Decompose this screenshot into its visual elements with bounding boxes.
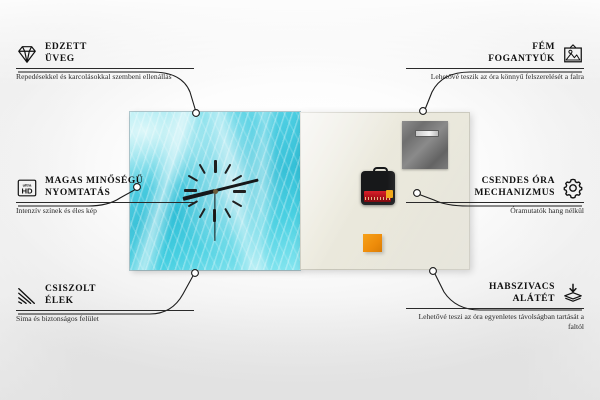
callout-subtitle: Lehetővé teszi az óra egyenletes távolsá… xyxy=(406,312,584,331)
callout-divider xyxy=(406,68,584,69)
callout-subtitle: Lehetővé teszik az óra könnyű felszerelé… xyxy=(406,72,584,82)
callout-header: FÉM FOGANTYÚK xyxy=(406,42,584,65)
callout-header: HABSZIVACS ALÁTÉT xyxy=(406,282,584,305)
callout-edzett-uveg: EDZETT ÜVEG Repedésekkel és karcolásokka… xyxy=(16,42,194,82)
callout-title-line2: ALÁTÉT xyxy=(489,294,555,306)
callout-title-line2: FOGANTYÚK xyxy=(488,54,555,66)
clock-mechanism-part xyxy=(361,167,395,205)
callout-title-line2: MECHANIZMUS xyxy=(475,188,555,200)
callout-habszivacs-alatet: HABSZIVACS ALÁTÉT Lehetővé teszi az óra … xyxy=(406,282,584,331)
callout-subtitle: Intenzív színek és éles kép xyxy=(16,206,194,216)
callout-title-line2: ÉLEK xyxy=(45,296,96,308)
callout-header: ultra HD MAGAS MINŐSÉGŰ NYOMTATÁS xyxy=(16,176,194,199)
foam-pad-icon xyxy=(562,283,584,305)
metal-hanger-part xyxy=(402,121,448,169)
callout-divider xyxy=(406,202,584,203)
callout-title-line1: CSENDES ÓRA xyxy=(475,176,555,188)
callout-title-line2: ÜVEG xyxy=(45,54,87,66)
callout-divider xyxy=(16,310,194,311)
foam-pad-part xyxy=(363,234,382,252)
callout-fem-fogantyuk: FÉM FOGANTYÚK Lehetővé teszik az óra kön… xyxy=(406,42,584,82)
svg-text:HD: HD xyxy=(21,186,33,195)
callout-divider xyxy=(16,68,194,69)
gear-icon xyxy=(562,177,584,199)
polished-edges-icon xyxy=(16,285,38,307)
callout-title-line1: FÉM xyxy=(488,42,555,54)
callout-csiszolt-elek: CSISZOLT ÉLEK Sima és biztonságos felüle… xyxy=(16,284,194,324)
callout-subtitle: Óramutatók hang nélkül xyxy=(406,206,584,216)
callout-header: EDZETT ÜVEG xyxy=(16,42,194,65)
callout-header: CSISZOLT ÉLEK xyxy=(16,284,194,307)
ultra-hd-icon: ultra HD xyxy=(16,177,38,199)
callout-subtitle: Sima és biztonságos felület xyxy=(16,314,194,324)
callout-title-line2: NYOMTATÁS xyxy=(45,188,143,200)
callout-divider xyxy=(16,202,194,203)
callout-title-line1: MAGAS MINŐSÉGŰ xyxy=(45,176,143,188)
callout-magas-minosegu-nyomtatas: ultra HD MAGAS MINŐSÉGŰ NYOMTATÁS Intenz… xyxy=(16,176,194,216)
callout-header: CSENDES ÓRA MECHANIZMUS xyxy=(406,176,584,199)
callout-title-line1: HABSZIVACS xyxy=(489,282,555,294)
callout-divider xyxy=(406,308,584,309)
callout-csendes-ora-mechanizmus: CSENDES ÓRA MECHANIZMUS Óramutatók hang … xyxy=(406,176,584,216)
callout-title-line1: CSISZOLT xyxy=(45,284,96,296)
wall-mount-frame-icon xyxy=(562,43,584,65)
clock-center-cap xyxy=(213,189,218,194)
callout-subtitle: Repedésekkel és karcolásokkal szembeni e… xyxy=(16,72,194,82)
callout-title-line1: EDZETT xyxy=(45,42,87,54)
diamond-icon xyxy=(16,43,38,65)
